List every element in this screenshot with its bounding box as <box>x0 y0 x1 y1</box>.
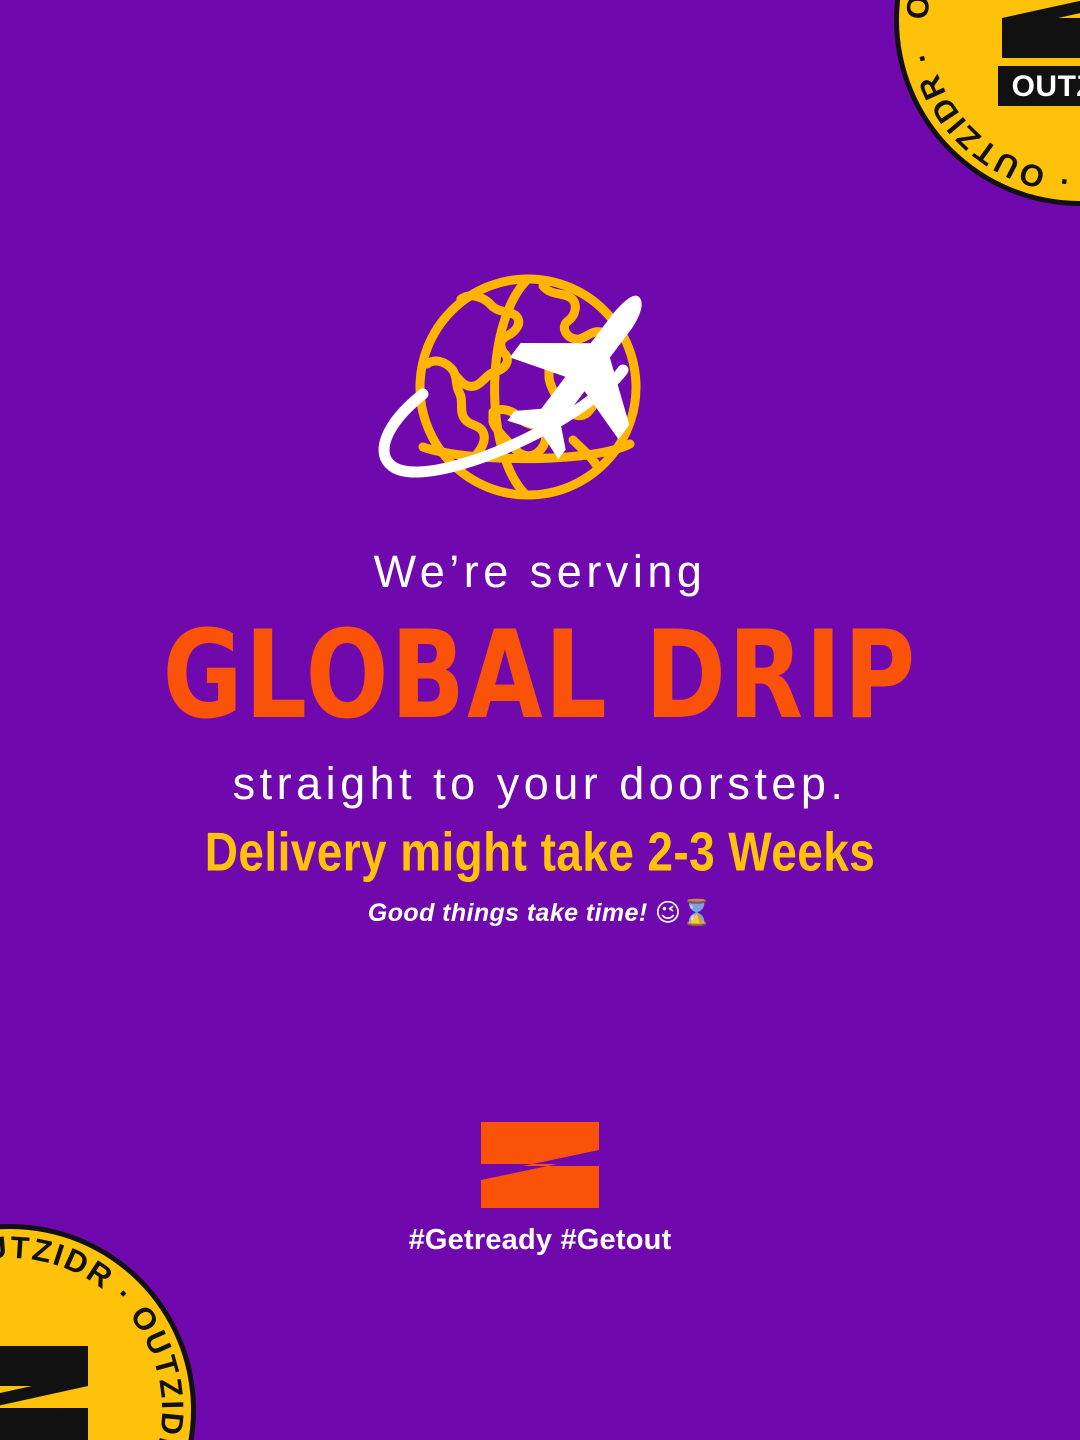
promo-poster: OUTZIDR · OUTZIDR · OUTZIDR · OUTZIDR · … <box>0 0 1080 1440</box>
footer-hashtags: #Getready #Getout <box>0 1224 1080 1257</box>
headline-line-2: GLOBAL DRIP <box>0 605 1080 748</box>
delivery-subtext-label: Good things take time! <box>368 899 648 927</box>
headline-line-3: straight to your doorstep. <box>0 759 1080 809</box>
brand-badge-top-right: OUTZIDR · OUTZIDR · OUTZIDR · OUTZIDR · … <box>890 0 1080 210</box>
badge-wordmark: OUTZIDR <box>998 66 1080 106</box>
footer-block: #Getready #Getout <box>0 1120 1080 1257</box>
headline-line-1: We’re serving <box>0 548 1080 597</box>
delivery-notice-block: Delivery might take 2-3 Weeks Good thing… <box>0 822 1080 928</box>
delivery-subtext: Good things take time! 😉⌛ <box>0 898 1080 928</box>
delivery-headline: Delivery might take 2-3 Weeks <box>0 822 1080 883</box>
globe-illustration <box>0 272 1080 507</box>
svg-text:OUTZIDR: OUTZIDR <box>1012 70 1080 103</box>
wink-hourglass-emoji: 😉⌛ <box>655 898 712 927</box>
headline-block: We’re serving GLOBAL DRIP straight to yo… <box>0 548 1080 809</box>
outzidr-z-logo <box>477 1120 603 1210</box>
